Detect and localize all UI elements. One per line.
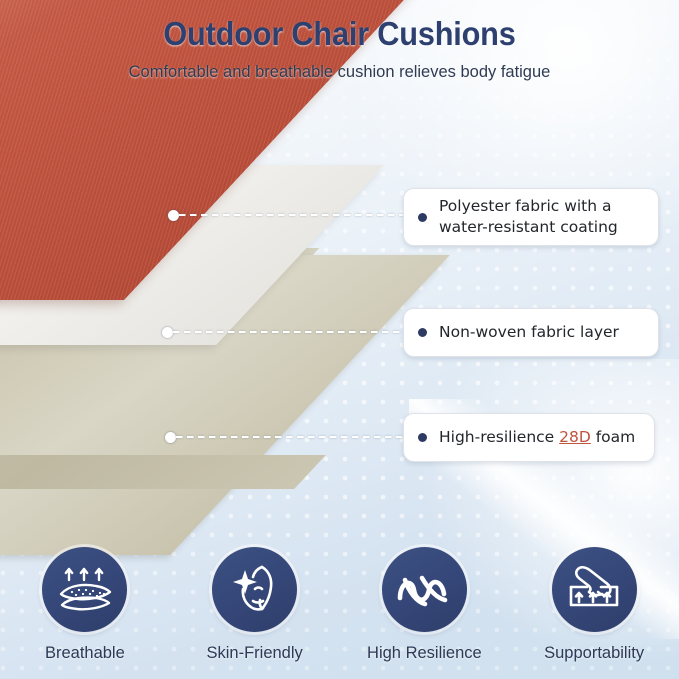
badge-label-high-resilience: High Resilience bbox=[349, 643, 499, 663]
badge-breathable[interactable]: Breathable bbox=[10, 547, 160, 663]
connector-dashes bbox=[179, 214, 418, 216]
connector-dot-icon bbox=[165, 432, 176, 443]
callout-foam[interactable]: High-resilience 28D foam bbox=[403, 413, 655, 462]
callout-polyester-fabric[interactable]: Polyester fabric with a water-resistant … bbox=[403, 188, 659, 246]
connector-dashes bbox=[173, 331, 418, 333]
callout-foam-prefix: High-resilience bbox=[439, 428, 559, 446]
connector-dot-icon bbox=[168, 210, 179, 221]
header: Outdoor Chair Cushions Comfortable and b… bbox=[0, 0, 679, 83]
high-resilience-foam-layer-edge bbox=[0, 455, 326, 489]
badge-circle bbox=[552, 547, 637, 632]
badge-high-resilience[interactable]: High Resilience bbox=[349, 547, 499, 663]
hand-pressing-foam-icon bbox=[565, 563, 623, 617]
page-subtitle: Comfortable and breathable cushion relie… bbox=[10, 54, 669, 83]
feature-badges: Breathable Skin-Friendly bbox=[0, 523, 679, 663]
badge-label-breathable: Breathable bbox=[10, 643, 160, 663]
connector-line-nonwoven bbox=[162, 327, 418, 337]
callout-non-woven-layer[interactable]: Non-woven fabric layer bbox=[403, 308, 659, 357]
badge-circle bbox=[42, 547, 127, 632]
badge-supportability[interactable]: Supportability bbox=[519, 547, 669, 663]
callout-text-polyester: Polyester fabric with a water-resistant … bbox=[439, 196, 618, 238]
bullet-icon bbox=[418, 433, 427, 442]
badge-circle bbox=[382, 547, 467, 632]
bullet-icon bbox=[418, 213, 427, 222]
bullet-icon bbox=[418, 328, 427, 337]
badge-label-skin-friendly: Skin-Friendly bbox=[180, 643, 330, 663]
callout-text-foam: High-resilience 28D foam bbox=[439, 427, 635, 448]
connector-line-polyester bbox=[168, 210, 418, 220]
callout-text-nonwoven: Non-woven fabric layer bbox=[439, 322, 619, 343]
connector-line-foam bbox=[165, 432, 418, 442]
infographic-canvas: Outdoor Chair Cushions Comfortable and b… bbox=[0, 0, 679, 679]
page-title: Outdoor Chair Cushions bbox=[24, 0, 655, 54]
callout-foam-density-highlight: 28D bbox=[559, 428, 591, 446]
callout-line-2: water-resistant coating bbox=[439, 218, 618, 236]
face-sparkle-icon bbox=[229, 563, 281, 617]
badge-skin-friendly[interactable]: Skin-Friendly bbox=[180, 547, 330, 663]
connector-dot-icon bbox=[162, 327, 173, 338]
badge-label-supportability: Supportability bbox=[519, 643, 669, 663]
callout-line-1: Polyester fabric with a bbox=[439, 197, 612, 215]
connector-dashes bbox=[176, 436, 418, 438]
badge-circle bbox=[212, 547, 297, 632]
breathable-fabric-arrows-icon bbox=[56, 564, 114, 616]
callout-foam-suffix: foam bbox=[591, 428, 635, 446]
spring-coil-icon bbox=[395, 568, 453, 612]
